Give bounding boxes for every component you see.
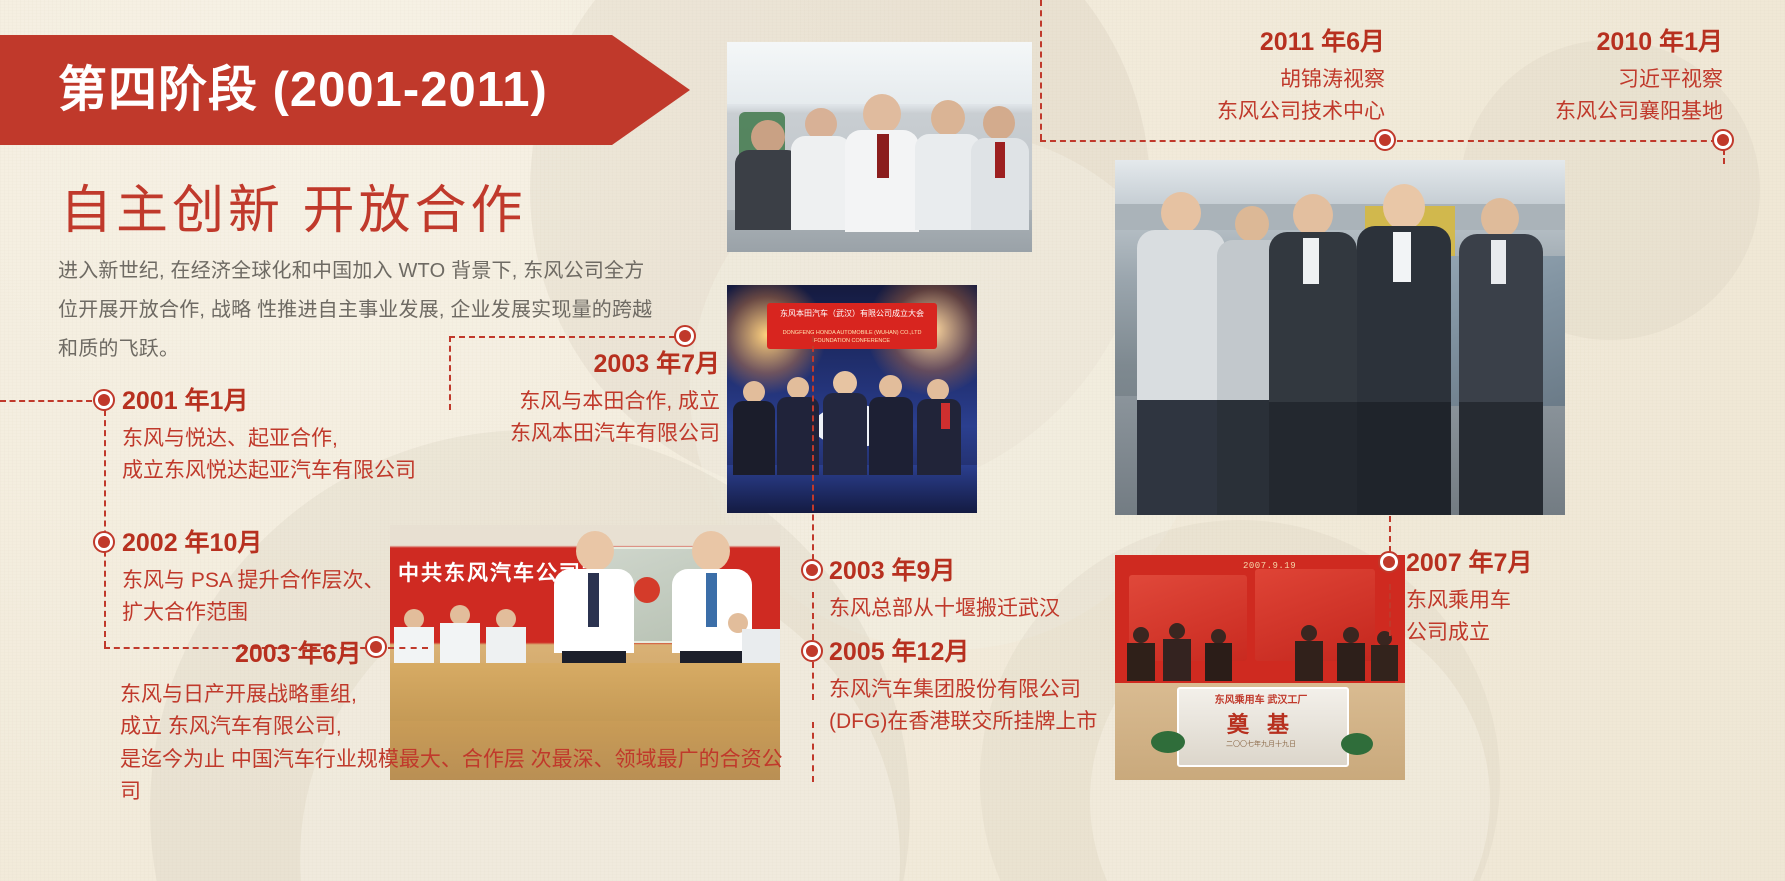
event-description: 习近平视察 东风公司襄阳基地 bbox=[1390, 64, 1723, 129]
infographic-canvas: 东风本田汽车（武汉）有限公司成立大会 DONGFENG HONDA AUTOMO… bbox=[0, 0, 1785, 881]
timeline-connector bbox=[1397, 140, 1717, 142]
event-description: 胡锦涛视察 东风公司技术中心 bbox=[1025, 64, 1385, 129]
event-description: 东风总部从十堰搬迁武汉 bbox=[829, 593, 1060, 626]
subtitle: 自主创新 开放合作 bbox=[60, 168, 526, 243]
timeline-marker-2003-09[interactable] bbox=[801, 559, 823, 581]
photo-overlay-title: 东风本田汽车（武汉）有限公司成立大会 bbox=[767, 309, 937, 319]
timeline-marker-2003-07[interactable] bbox=[674, 325, 696, 347]
event-date: 2003 年6月 bbox=[235, 640, 800, 669]
event-date: 2011 年6月 bbox=[1025, 28, 1385, 57]
timeline-connector bbox=[812, 662, 814, 700]
timeline-event-2003-09[interactable]: 2003 年9月 东风总部从十堰搬迁武汉 bbox=[829, 557, 1060, 625]
timeline-marker-2011-06[interactable] bbox=[1374, 129, 1396, 151]
photo-plaque-line2: 奠 基 bbox=[1177, 707, 1345, 739]
event-date: 2007 年7月 bbox=[1406, 549, 1532, 578]
event-description: 东风与本田合作, 成立 东风本田汽车有限公司 bbox=[420, 386, 720, 451]
timeline-connector bbox=[1040, 140, 1385, 142]
timeline-marker-2007-07[interactable] bbox=[1378, 551, 1400, 573]
event-description: 东风与 PSA 提升合作层次、 扩大合作范围 bbox=[122, 565, 385, 630]
photo-plaque-line1: 东风乘用车 武汉工厂 bbox=[1177, 691, 1345, 706]
photo-overlay-subtitle: DONGFENG HONDA AUTOMOBILE (WUHAN) CO.,LT… bbox=[763, 329, 941, 346]
timeline-connector bbox=[812, 592, 814, 640]
timeline-event-2005-12[interactable]: 2005 年12月 东风汽车集团股份有限公司 (DFG)在香港联交所挂牌上市 bbox=[829, 638, 1097, 739]
timeline-event-2003-07[interactable]: 2003 年7月 东风与本田合作, 成立 东风本田汽车有限公司 bbox=[420, 350, 720, 451]
event-date: 2002 年10月 bbox=[122, 529, 385, 558]
timeline-event-2007-07[interactable]: 2007 年7月 东风乘用车 公司成立 bbox=[1406, 549, 1532, 650]
event-description: 东风与悦达、起亚合作, 成立东风悦达起亚汽车有限公司 bbox=[122, 423, 416, 488]
event-date: 2003 年9月 bbox=[829, 557, 1060, 586]
timeline-marker-2002-10[interactable] bbox=[93, 531, 115, 553]
photo-plaque-line3: 二〇〇七年九月十九日 bbox=[1177, 739, 1345, 749]
timeline-event-2003-06[interactable]: 2003 年6月 东风与日产开展战略重组, 成立 东风汽车有限公司, 是迄今为止… bbox=[120, 640, 800, 809]
timeline-marker-2001-01[interactable] bbox=[93, 389, 115, 411]
timeline-event-2001-01[interactable]: 2001 年1月 东风与悦达、起亚合作, 成立东风悦达起亚汽车有限公司 bbox=[122, 387, 416, 488]
photo-xi-jinping-factory bbox=[1115, 160, 1565, 515]
timeline-marker-2010-01[interactable] bbox=[1712, 129, 1734, 151]
timeline-marker-2005-12[interactable] bbox=[801, 640, 823, 662]
timeline-event-2010-01[interactable]: 2010 年1月 习近平视察 东风公司襄阳基地 bbox=[1390, 28, 1723, 129]
photo-hu-jintao-visit bbox=[727, 42, 1032, 252]
event-date: 2010 年1月 bbox=[1390, 28, 1723, 57]
photo-groundbreaking-ceremony: 2007.9.19 东风乘用车 武汉工厂 奠 基 二〇〇七年九月十九日 bbox=[1115, 555, 1405, 780]
event-description: 东风与日产开展战略重组, 成立 东风汽车有限公司, 是迄今为止 中国汽车行业规模… bbox=[120, 679, 800, 809]
timeline-event-2002-10[interactable]: 2002 年10月 东风与 PSA 提升合作层次、 扩大合作范围 bbox=[122, 529, 385, 630]
phase-banner: 第四阶段 (2001-2011) bbox=[0, 35, 690, 145]
timeline-connector bbox=[449, 336, 675, 338]
page-title: 第四阶段 (2001-2011) bbox=[58, 66, 548, 115]
timeline-connector bbox=[0, 400, 92, 402]
timeline-connector bbox=[1389, 584, 1391, 636]
event-date: 2001 年1月 bbox=[122, 387, 416, 416]
timeline-connector bbox=[812, 336, 814, 580]
event-description: 东风汽车集团股份有限公司 (DFG)在香港联交所挂牌上市 bbox=[829, 674, 1097, 739]
event-date: 2003 年7月 bbox=[420, 350, 720, 379]
event-description: 东风乘用车 公司成立 bbox=[1406, 585, 1532, 650]
timeline-connector bbox=[104, 400, 106, 647]
event-date: 2005 年12月 bbox=[829, 638, 1097, 667]
timeline-connector bbox=[812, 722, 814, 782]
timeline-event-2011-06[interactable]: 2011 年6月 胡锦涛视察 东风公司技术中心 bbox=[1025, 28, 1385, 129]
photo-honda-founding-ceremony: 东风本田汽车（武汉）有限公司成立大会 DONGFENG HONDA AUTOMO… bbox=[727, 285, 977, 513]
